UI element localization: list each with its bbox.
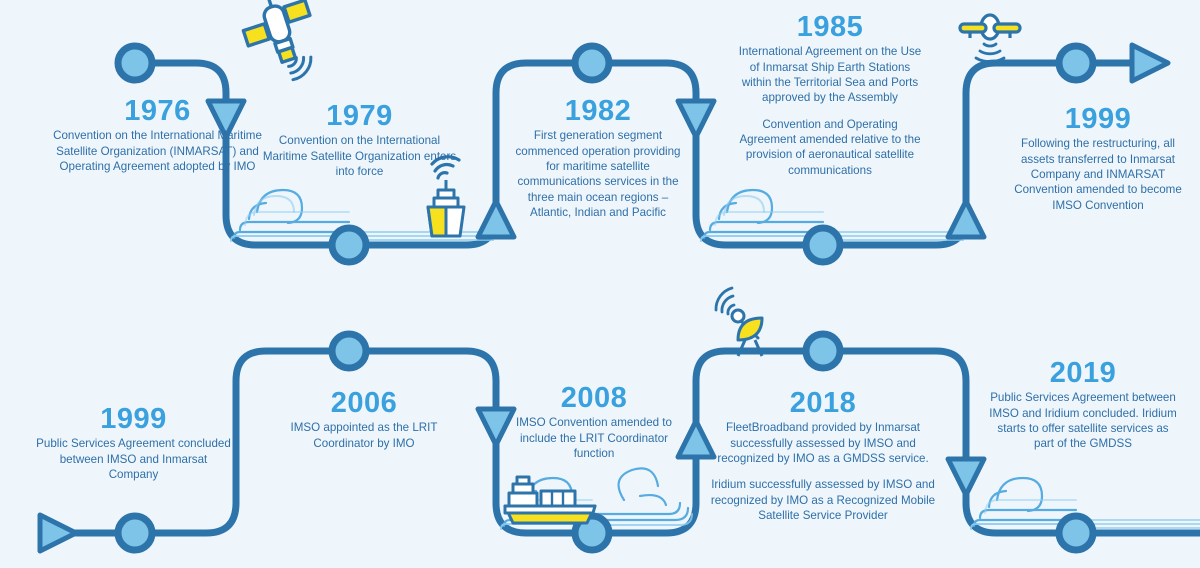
entry-body: Convention on the International Maritime… [50,128,265,174]
timeline-entry-1976: 1976 Convention on the International Mar… [50,96,265,174]
entry-body: IMSO Convention amended to include the L… [509,415,679,461]
entry-year: 2008 [509,383,679,413]
entry-year: 2006 [264,388,464,418]
arrow-down-2018 [948,459,984,495]
entry-body: Public Services Agreement concluded betw… [36,436,231,482]
entry-body: International Agreement on the Use of In… [735,44,925,177]
timeline-infographic: 1976 Convention on the International Mar… [0,0,1200,568]
timeline-entry-1979: 1979 Convention on the International Mar… [262,101,457,179]
timeline-node-1999-bottom [118,516,152,550]
timeline-node-1985 [806,228,840,262]
entry-body: First generation segment commenced opera… [513,128,683,220]
entry-paragraph: FleetBroadband provided by Inmarsat succ… [707,420,939,466]
entry-year: 1985 [735,12,925,42]
entry-paragraph: Following the restructuring, all assets … [1008,136,1188,212]
entry-paragraph: International Agreement on the Use of In… [735,44,925,105]
satellite-icon [237,0,328,90]
entry-paragraph: IMSO Convention amended to include the L… [509,415,679,461]
entry-body: FleetBroadband provided by Inmarsat succ… [707,420,939,523]
timeline-path-graphic [0,0,1200,568]
timeline-entry-1982: 1982 First generation segment commenced … [513,96,683,220]
entry-year: 1979 [262,101,457,131]
timeline-entry-1999-top: 1999 Following the restructuring, all as… [1008,104,1188,213]
entry-year: 1982 [513,96,683,126]
timeline-node-1999-top [1059,46,1093,80]
arrow-up-1982 [478,201,514,237]
entry-paragraph: Convention and Operating Agreement amend… [735,117,925,178]
timeline-node-2006 [332,334,366,368]
timeline-entry-2006: 2006 IMSO appointed as the LRIT Coordina… [264,388,464,451]
entry-body: Following the restructuring, all assets … [1008,136,1188,212]
entry-year: 2019 [988,358,1178,388]
timeline-entry-1999-bottom: 1999 Public Services Agreement concluded… [36,404,231,482]
entry-year: 2018 [707,388,939,418]
timeline-entry-1985: 1985 International Agreement on the Use … [735,12,925,178]
entry-body: IMSO appointed as the LRIT Coordinator b… [264,420,464,451]
entry-paragraph: Convention on the International Maritime… [262,133,457,179]
airplane-icon [960,15,1020,62]
entry-year: 1999 [36,404,231,434]
entry-year: 1999 [1008,104,1188,134]
arrow-down-1982 [678,101,714,137]
arrow-up-1999-top [948,201,984,237]
timeline-node-2018 [806,334,840,368]
timeline-entry-2019: 2019 Public Services Agreement between I… [988,358,1178,452]
timeline-node-1979 [332,228,366,262]
entry-paragraph: IMSO appointed as the LRIT Coordinator b… [264,420,464,451]
entry-year: 1976 [50,96,265,126]
entry-paragraph: Convention on the International Maritime… [50,128,265,174]
entry-body: Public Services Agreement between IMSO a… [988,390,1178,451]
timeline-entry-2008: 2008 IMSO Convention amended to include … [509,383,679,461]
timeline-node-1982 [575,46,609,80]
arrow-right-start-bottom [40,515,76,551]
timeline-entry-2018: 2018 FleetBroadband provided by Inmarsat… [707,388,939,523]
entry-paragraph: Public Services Agreement between IMSO a… [988,390,1178,451]
timeline-node-1976 [118,46,152,80]
satellite-dish-icon [716,288,762,356]
entry-paragraph: Public Services Agreement concluded betw… [36,436,231,482]
entry-paragraph: Iridium successfully assessed by IMSO an… [707,477,939,523]
entry-body: Convention on the International Maritime… [262,133,457,179]
arrow-right-end-top [1132,45,1168,81]
entry-paragraph: First generation segment commenced opera… [513,128,683,220]
timeline-node-2019 [1059,516,1093,550]
